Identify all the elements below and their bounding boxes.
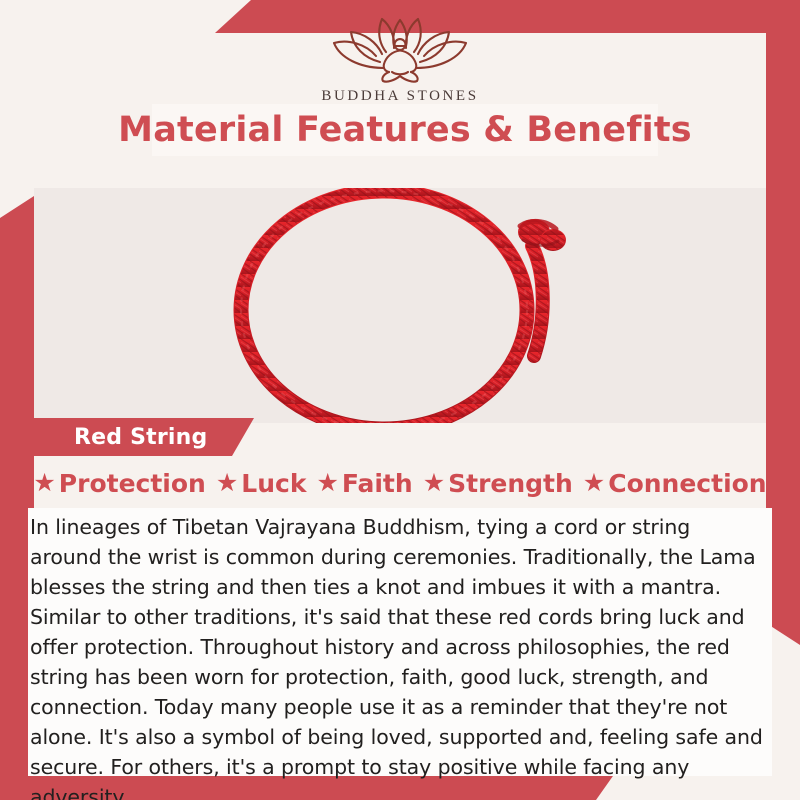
feature-item-connection: ★ Connection [583,469,767,498]
star-icon: ★ [423,471,445,496]
red-string-bracelet-image [34,188,766,423]
description-panel: In lineages of Tibetan Vajrayana Buddhis… [28,508,772,776]
brand-name: BUDDHA STONES [321,88,478,105]
product-tag-label: Red String [22,425,207,450]
feature-label: Strength [448,469,573,498]
feature-item-protection: ★ Protection [33,469,205,498]
brand-logo: BUDDHA STONES [0,12,800,105]
star-icon: ★ [216,471,238,496]
feature-item-luck: ★ Luck [216,469,307,498]
feature-label: Luck [241,469,306,498]
feature-item-strength: ★ Strength [423,469,573,498]
feature-label: Faith [342,469,413,498]
feature-label: Protection [59,469,206,498]
lotus-meditation-icon [324,12,476,86]
description-paragraph: In lineages of Tibetan Vajrayana Buddhis… [28,508,772,800]
star-icon: ★ [583,471,605,496]
product-image-panel [34,188,766,423]
infographic-poster: BUDDHA STONES Material Features & Benefi… [0,0,800,800]
star-icon: ★ [33,471,55,496]
feature-list: ★ Protection ★ Luck ★ Faith ★ Strength ★… [30,463,770,503]
page-title: Material Features & Benefits [118,110,692,150]
product-tag-banner: Red String [22,418,254,456]
title-banner: Material Features & Benefits [152,104,658,156]
feature-label: Connection [608,469,766,498]
feature-item-faith: ★ Faith [316,469,412,498]
star-icon: ★ [316,471,338,496]
